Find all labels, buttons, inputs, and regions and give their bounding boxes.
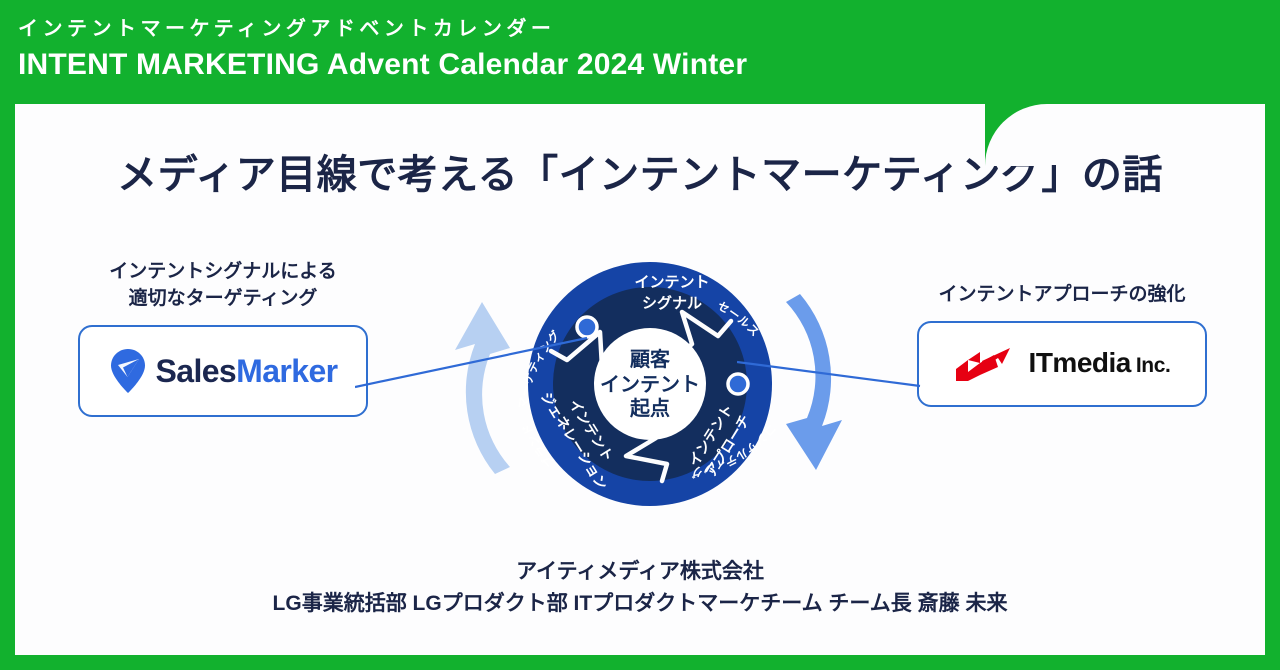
callout-caption-line1: インテントアプローチの強化: [917, 282, 1207, 309]
segment-signal-line1: インテント: [634, 274, 709, 291]
itmedia-wordmark: ITmediaInc.: [1029, 349, 1171, 378]
callout-sales-marker: インテントシグナルによる 適切なターゲティング SalesMarker: [78, 259, 368, 417]
center-line2: インテント: [600, 374, 700, 396]
banner-kicker: インテントマーケティングアドベントカレンダー: [18, 16, 1000, 43]
speaker-company: アイティメディア株式会社: [15, 556, 1265, 588]
callout-caption-itmedia: インテントアプローチの強化: [917, 282, 1207, 309]
sales-marker-word-primary: Sales: [156, 353, 237, 389]
slide-root: メディア目線で考える「インテントマーケティング」の話: [0, 0, 1280, 670]
callout-caption-sales-marker: インテントシグナルによる 適切なターゲティング: [78, 259, 368, 313]
event-banner: インテントマーケティングアドベントカレンダー INTENT MARKETING …: [0, 0, 1000, 104]
banner-title: INTENT MARKETING Advent Calendar 2024 Wi…: [18, 45, 1000, 86]
sales-marker-word-secondary: Marker: [236, 353, 337, 389]
center-line3: 起点: [629, 397, 670, 420]
logo-box-sales-marker[interactable]: SalesMarker: [78, 325, 368, 417]
location-pin-icon: [109, 348, 147, 394]
logo-box-itmedia[interactable]: ITmediaInc.: [917, 321, 1207, 407]
callout-itmedia: インテントアプローチの強化 ITmediaInc.: [917, 282, 1207, 407]
itmedia-word-secondary: Inc.: [1136, 354, 1171, 377]
itmedia-mark-icon: [954, 347, 1020, 381]
page-title: メディア目線で考える「インテントマーケティング」の話: [15, 142, 1265, 200]
callout-caption-line1: インテントシグナルによる: [78, 259, 368, 286]
center-line1: 顧客: [629, 347, 671, 371]
connector-left: [355, 332, 590, 392]
itmedia-word-primary: ITmedia: [1029, 347, 1131, 378]
speaker-info: アイティメディア株式会社 LG事業統括部 LGプロダクト部 ITプロダクトマーケ…: [15, 556, 1265, 619]
segment-signal-line2: シグナル: [642, 294, 702, 312]
connector-right: [737, 356, 922, 396]
content-card: メディア目線で考える「インテントマーケティング」の話: [15, 104, 1265, 655]
callout-caption-line2: 適切なターゲティング: [78, 286, 368, 313]
speaker-role: LG事業統括部 LGプロダクト部 ITプロダクトマーケチーム チーム長 斎藤 未…: [15, 588, 1265, 620]
sales-marker-wordmark: SalesMarker: [156, 355, 338, 387]
